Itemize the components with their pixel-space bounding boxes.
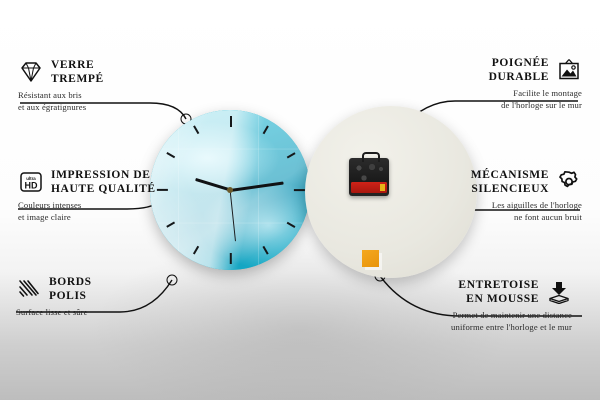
feature-title-line2: TREMPÉ <box>51 72 104 86</box>
feature-subtitle-line1: Résistant aux bris <box>18 90 218 102</box>
feature-verre-trempe: VERRE TREMPÉ Résistant aux bris et aux é… <box>18 58 218 113</box>
feature-subtitle-line2: ne font aucun bruit <box>382 212 582 224</box>
svg-text:HD: HD <box>25 181 38 191</box>
feature-subtitle-line2: et aux égratignures <box>18 102 218 114</box>
feature-title-line2: DURABLE <box>489 70 549 84</box>
feature-title-line1: IMPRESSION DE <box>51 168 156 182</box>
hanger-tab-icon <box>362 152 380 162</box>
feature-title-line2: EN MOUSSE <box>458 292 539 306</box>
feature-title-line1: VERRE <box>51 58 104 72</box>
mechanism-detail <box>353 163 385 183</box>
feature-subtitle-line1: Les aiguilles de l'horloge <box>382 200 582 212</box>
feature-subtitle-line1: Facilite le montage <box>382 88 582 100</box>
feature-subtitle-line2: et image claire <box>18 212 218 224</box>
foam-spacer <box>362 250 379 267</box>
feature-subtitle-line2: uniforme entre l'horloge et le mur <box>372 322 572 334</box>
feature-title-line1: BORDS <box>49 275 92 289</box>
feature-poignee-durable: POIGNÉE DURABLE Facilite le montage de l… <box>382 56 582 111</box>
gear-icon <box>556 170 582 194</box>
feature-title-line2: HAUTE QUALITÉ <box>51 182 156 196</box>
feature-title-line1: ENTRETOISE <box>458 278 539 292</box>
foam-spacer-icon <box>546 280 572 304</box>
polished-edges-icon <box>16 277 42 301</box>
feature-subtitle-line1: Couleurs intenses <box>18 200 218 212</box>
feature-title-line2: SILENCIEUX <box>471 182 549 196</box>
diamond-icon <box>18 60 44 84</box>
feature-subtitle-line1: Permet de maintenir une distance <box>372 310 572 322</box>
feature-title-line1: MÉCANISME <box>471 168 549 182</box>
feature-impression-haute-qualite: ultra HD IMPRESSION DE HAUTE QUALITÉ Cou… <box>18 168 218 223</box>
feature-bords-polis: BORDS POLIS Surface lisse et sûre <box>16 275 216 319</box>
feature-title-line2: POLIS <box>49 289 92 303</box>
feature-entretoise-en-mousse: ENTRETOISE EN MOUSSE Permet de maintenir… <box>372 278 572 333</box>
feature-mecanisme-silencieux: MÉCANISME SILENCIEUX Les aiguilles de l'… <box>382 168 582 223</box>
wall-hanger-icon <box>556 58 582 82</box>
infographic-canvas: VERRE TREMPÉ Résistant aux bris et aux é… <box>0 0 600 400</box>
feature-subtitle-line1: Surface lisse et sûre <box>16 307 216 319</box>
hands-center-pin <box>227 187 233 193</box>
feature-subtitle-line2: de l'horloge sur le mur <box>382 100 582 112</box>
ultra-hd-icon: ultra HD <box>18 170 44 194</box>
feature-title-line1: POIGNÉE <box>489 56 549 70</box>
